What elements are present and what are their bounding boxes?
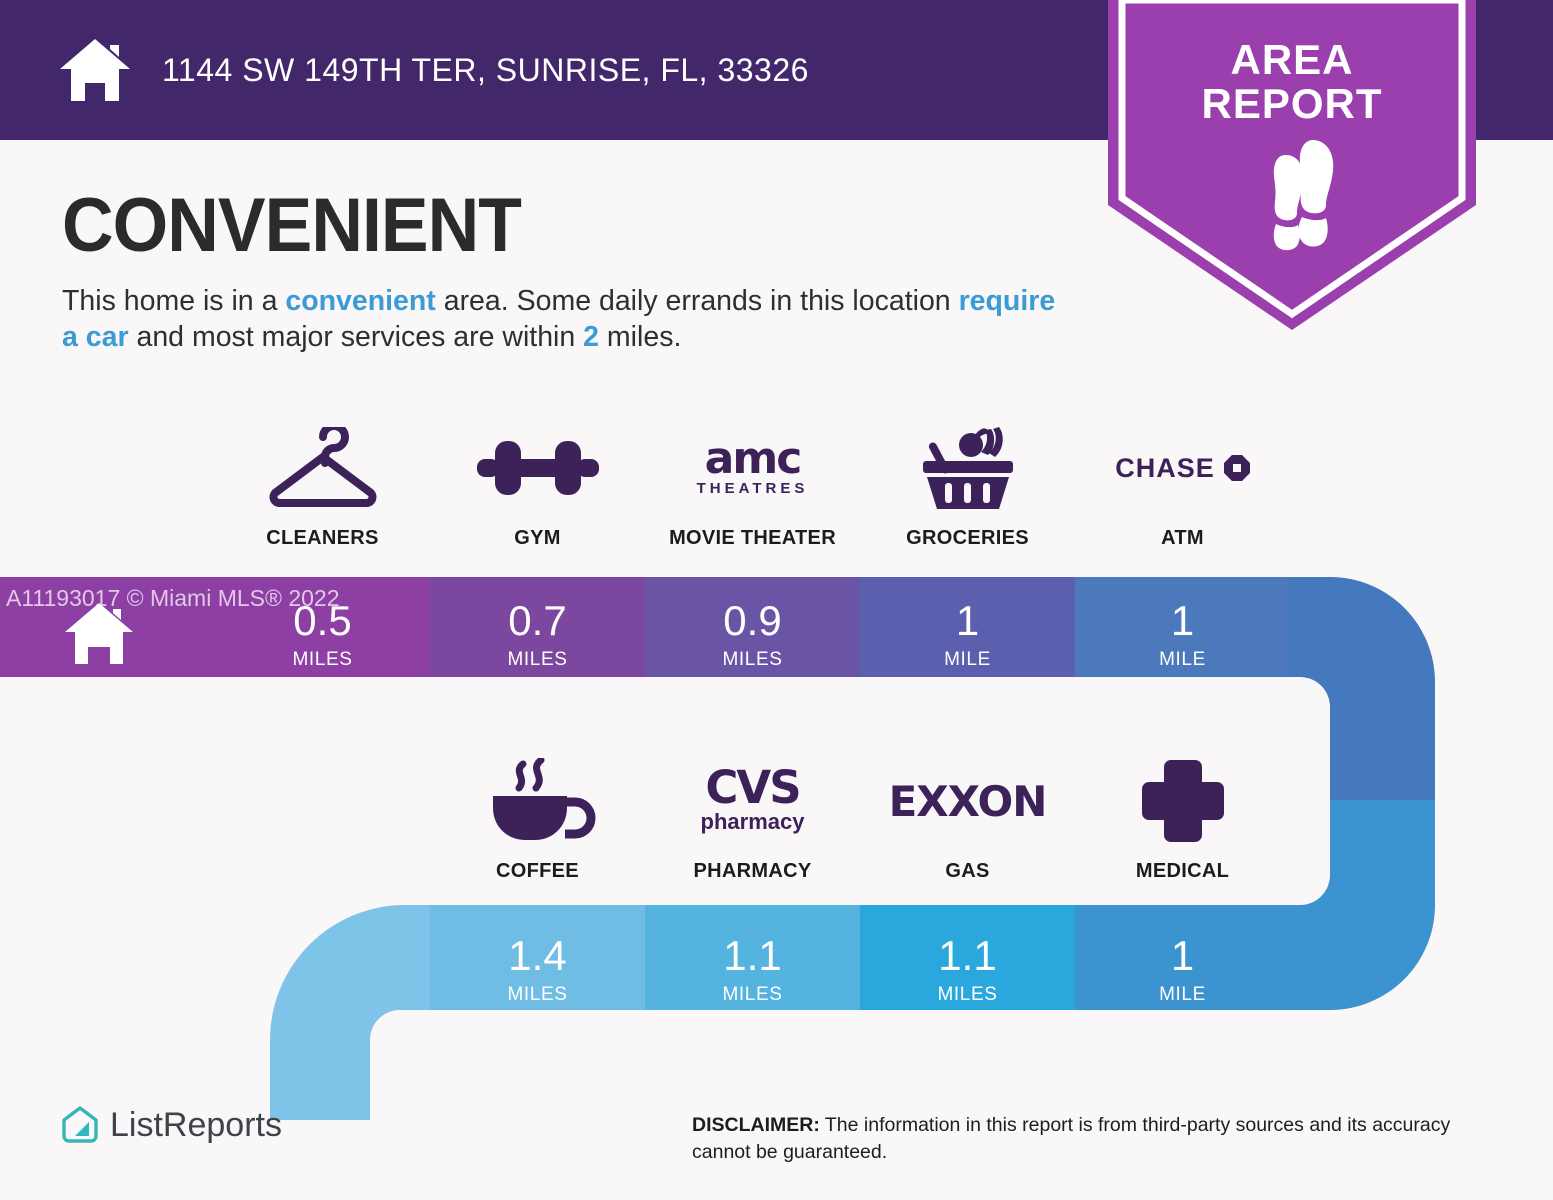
distance-row-2: 1.4 MILES 1.1 MILES 1.1 MILES 1 MILE bbox=[430, 913, 1290, 1028]
listreports-wordmark: ListReports bbox=[110, 1106, 282, 1145]
badge-title: AREA REPORT bbox=[1108, 38, 1476, 126]
dumbbell-icon bbox=[473, 425, 603, 511]
distance-cell-medical: 1 MILE bbox=[1075, 913, 1290, 1028]
distance-value: 1 bbox=[1171, 935, 1194, 977]
exxon-logo: EXXON bbox=[889, 758, 1047, 844]
medical-cross-icon bbox=[1140, 758, 1226, 844]
para-highlight-3: 2 bbox=[583, 321, 599, 353]
amenity-pharmacy: CVS pharmacy PHARMACY bbox=[645, 758, 860, 883]
distance-value: 1.1 bbox=[723, 935, 781, 977]
disclaimer-text: DISCLAIMER: The information in this repo… bbox=[692, 1112, 1492, 1166]
listreports-house-icon bbox=[60, 1105, 100, 1145]
basket-icon bbox=[913, 425, 1023, 511]
distance-cell-cleaners: 0.5 MILES bbox=[215, 578, 430, 693]
footprints-icon bbox=[1274, 140, 1334, 250]
distance-unit: MILES bbox=[722, 984, 782, 1006]
para-part-4: miles. bbox=[599, 321, 681, 353]
chase-wordmark: CHASE bbox=[1115, 453, 1215, 484]
amenity-icon-row-1: CLEANERS GYM amc THEATRES MOVIE THEATER bbox=[215, 425, 1290, 550]
distance-unit: MILES bbox=[507, 649, 567, 671]
distance-unit: MILE bbox=[944, 649, 991, 671]
distance-value: 0.7 bbox=[508, 600, 566, 642]
amenity-gas: EXXON GAS bbox=[860, 758, 1075, 883]
amenity-label: ATM bbox=[1161, 527, 1204, 550]
distance-row-1: 0.5 MILES 0.7 MILES 0.9 MILES 1 MILE 1 M… bbox=[215, 578, 1290, 693]
amenity-label: GAS bbox=[945, 860, 989, 883]
distance-cell-atm: 1 MILE bbox=[1075, 578, 1290, 693]
chase-logo: CHASE bbox=[1115, 425, 1250, 511]
distance-unit: MILES bbox=[292, 649, 352, 671]
amenity-cleaners: CLEANERS bbox=[215, 425, 430, 550]
amc-subtext: THEATRES bbox=[697, 480, 809, 497]
distance-value: 1.4 bbox=[508, 935, 566, 977]
hero-paragraph: This home is in a convenient area. Some … bbox=[62, 283, 1062, 356]
amenity-label: CLEANERS bbox=[266, 527, 378, 550]
distance-cell-gym: 0.7 MILES bbox=[430, 578, 645, 693]
distance-value: 1.1 bbox=[938, 935, 996, 977]
amenity-movie-theater: amc THEATRES MOVIE THEATER bbox=[645, 425, 860, 550]
page-title: CONVENIENT bbox=[62, 182, 521, 269]
amenity-label: MOVIE THEATER bbox=[669, 527, 836, 550]
distance-cell-coffee: 1.4 MILES bbox=[430, 913, 645, 1028]
chase-octagon-icon bbox=[1224, 455, 1250, 481]
amenity-groceries: GROCERIES bbox=[860, 425, 1075, 550]
amenity-label: GROCERIES bbox=[906, 527, 1029, 550]
distance-unit: MILE bbox=[1159, 984, 1206, 1006]
amenity-label: GYM bbox=[514, 527, 560, 550]
home-icon bbox=[58, 35, 132, 105]
listreports-brand: ListReports bbox=[60, 1105, 282, 1145]
distance-cell-movie-theater: 0.9 MILES bbox=[645, 578, 860, 693]
amenity-icon-row-2: COFFEE CVS pharmacy PHARMACY EXXON GAS M… bbox=[430, 758, 1290, 883]
distance-cell-groceries: 1 MILE bbox=[860, 578, 1075, 693]
exxon-wordmark: EXXON bbox=[889, 777, 1047, 826]
amenity-label: PHARMACY bbox=[694, 860, 812, 883]
distance-cell-gas: 1.1 MILES bbox=[860, 913, 1075, 1028]
ribbon-turn-right-top bbox=[1290, 560, 1553, 800]
ribbon-turn-right-bottom bbox=[1290, 800, 1553, 1030]
amenity-coffee: COFFEE bbox=[430, 758, 645, 883]
distance-unit: MILES bbox=[722, 649, 782, 671]
cvs-subtext: pharmacy bbox=[701, 809, 805, 835]
para-part-2: area. Some daily errands in this locatio… bbox=[436, 285, 959, 317]
amenity-label: MEDICAL bbox=[1136, 860, 1229, 883]
disclaimer-label: DISCLAIMER: bbox=[692, 1114, 820, 1136]
amc-wordmark: amc bbox=[697, 439, 809, 479]
cvs-wordmark: CVS bbox=[701, 767, 805, 808]
badge-line-1: AREA bbox=[1108, 38, 1476, 82]
distance-value: 1 bbox=[956, 600, 979, 642]
para-highlight-1: convenient bbox=[285, 285, 435, 317]
area-report-badge: AREA REPORT bbox=[1108, 0, 1476, 330]
para-part-3: and most major services are within bbox=[129, 321, 584, 353]
property-address: 1144 SW 149TH TER, SUNRISE, FL, 33326 bbox=[162, 52, 809, 89]
distance-value: 1 bbox=[1171, 600, 1194, 642]
ribbon-turn-left bbox=[230, 905, 430, 1120]
distance-unit: MILES bbox=[507, 984, 567, 1006]
amenity-medical: MEDICAL bbox=[1075, 758, 1290, 883]
distance-unit: MILE bbox=[1159, 649, 1206, 671]
cvs-pharmacy-logo: CVS pharmacy bbox=[701, 758, 805, 844]
distance-cell-pharmacy: 1.1 MILES bbox=[645, 913, 860, 1028]
amc-theatres-logo: amc THEATRES bbox=[697, 425, 809, 511]
amenity-atm: CHASE ATM bbox=[1075, 425, 1290, 550]
distance-value: 0.9 bbox=[723, 600, 781, 642]
badge-line-2: REPORT bbox=[1108, 82, 1476, 126]
distance-value: 0.5 bbox=[293, 600, 351, 642]
para-part-1: This home is in a bbox=[62, 285, 285, 317]
amenity-gym: GYM bbox=[430, 425, 645, 550]
hanger-icon bbox=[263, 425, 383, 511]
distance-unit: MILES bbox=[937, 984, 997, 1006]
amenity-label: COFFEE bbox=[496, 860, 579, 883]
coffee-cup-icon bbox=[479, 758, 597, 844]
